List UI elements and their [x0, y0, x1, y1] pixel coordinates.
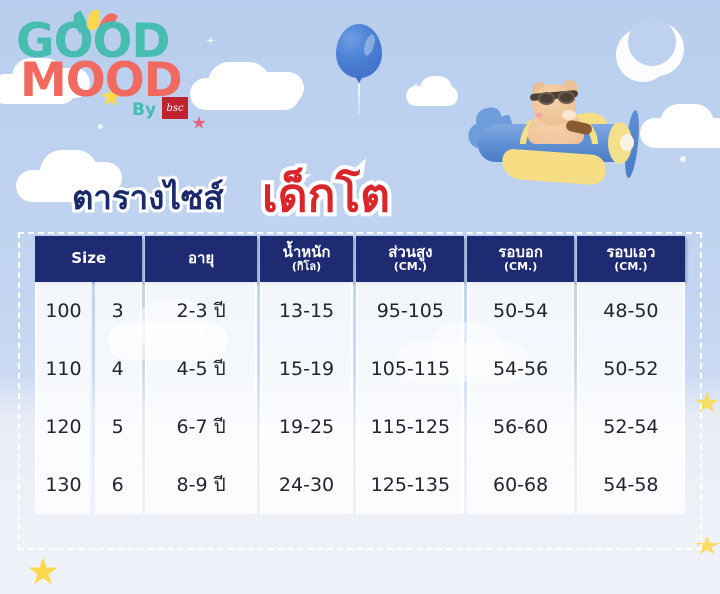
- moon-face: [643, 42, 652, 47]
- cell-height: 105-115: [356, 340, 464, 398]
- balloon-highlight: [362, 33, 377, 57]
- column-header-waist: รอบเอว (CM.): [577, 236, 685, 282]
- column-header-age: อายุ: [145, 236, 256, 282]
- column-header-chest: รอบอก (CM.): [467, 236, 573, 282]
- header-unit: (กิโล): [262, 261, 351, 273]
- bear-muzzle: [562, 110, 576, 120]
- goggle-lens-left: [538, 92, 555, 105]
- dot-small-left: [98, 124, 103, 129]
- table-header-row: Size อายุ น้ำหนัก (กิโล) ส่วนสูง (CM.) ร…: [35, 236, 685, 282]
- header-label: น้ำหนัก: [283, 243, 331, 261]
- cell-height: 125-135: [356, 456, 464, 514]
- cell-size: 100: [35, 282, 92, 340]
- cell-age: 6-7 ปี: [145, 398, 256, 456]
- brand-logo: GOOD MOOD By bsc: [14, 12, 214, 122]
- cell-chest: 60-68: [467, 456, 573, 514]
- cell-waist: 54-58: [577, 456, 685, 514]
- header-label: ส่วนสูง: [388, 243, 432, 261]
- table-row: 130 6 8-9 ปี 24-30 125-135 60-68 54-58: [35, 456, 685, 514]
- cell-weight: 19-25: [260, 398, 353, 456]
- cell-age: 8-9 ปี: [145, 456, 256, 514]
- cell-size-alt: 4: [95, 340, 143, 398]
- column-header-height: ส่วนสูง (CM.): [356, 236, 464, 282]
- cell-waist: 48-50: [577, 282, 685, 340]
- cell-waist: 52-54: [577, 398, 685, 456]
- cell-weight: 13-15: [260, 282, 353, 340]
- cell-size-alt: 3: [95, 282, 143, 340]
- table-row: 100 3 2-3 ปี 13-15 95-105 50-54 48-50: [35, 282, 685, 340]
- table-row: 110 4 4-5 ปี 15-19 105-115 54-56 50-52: [35, 340, 685, 398]
- partner-logo-bsc: bsc: [162, 97, 188, 119]
- cell-chest: 54-56: [467, 340, 573, 398]
- column-header-weight: น้ำหนัก (กิโล): [260, 236, 353, 282]
- balloon-icon: [336, 24, 382, 78]
- header-unit: (CM.): [579, 261, 683, 273]
- star-yellow-bottom-left: [28, 557, 58, 587]
- bear-cheek-left: [536, 113, 543, 118]
- cell-height: 115-125: [356, 398, 464, 456]
- header-label: รอบเอว: [606, 243, 655, 261]
- cell-waist: 50-52: [577, 340, 685, 398]
- cell-height: 95-105: [356, 282, 464, 340]
- cell-age: 4-5 ปี: [145, 340, 256, 398]
- cell-weight: 15-19: [260, 340, 353, 398]
- header-unit: (CM.): [358, 261, 462, 273]
- page-title: ตารางไซส์ เด็กโต: [0, 163, 720, 221]
- cell-size: 130: [35, 456, 92, 514]
- header-label: อายุ: [188, 249, 214, 267]
- cell-size-alt: 6: [95, 456, 143, 514]
- cell-chest: 56-60: [467, 398, 573, 456]
- dot-small-right: [680, 156, 686, 162]
- header-label: รอบอก: [498, 243, 543, 261]
- cell-age: 2-3 ปี: [145, 282, 256, 340]
- column-header-size: Size: [35, 236, 142, 282]
- logo-text-mood: MOOD: [20, 57, 182, 104]
- cell-size-alt: 5: [95, 398, 143, 456]
- cell-chest: 50-54: [467, 282, 573, 340]
- table-row: 120 5 6-7 ปี 19-25 115-125 56-60 52-54: [35, 398, 685, 456]
- balloon-string: [358, 84, 360, 114]
- title-accent: เด็กโต: [262, 159, 390, 232]
- header-label: Size: [71, 249, 106, 267]
- title-main: ตารางไซส์: [72, 171, 223, 224]
- size-chart-poster: GOOD MOOD By bsc ตารางไซส์ เด็กโต: [0, 0, 720, 594]
- cell-size: 120: [35, 398, 92, 456]
- size-chart-table: Size อายุ น้ำหนัก (กิโล) ส่วนสูง (CM.) ร…: [32, 236, 688, 514]
- cell-weight: 24-30: [260, 456, 353, 514]
- cell-size: 110: [35, 340, 92, 398]
- header-unit: (CM.): [469, 261, 571, 273]
- propeller-hub: [620, 134, 634, 151]
- logo-by-label: By: [132, 100, 156, 120]
- goggle-lens-right: [558, 91, 575, 104]
- crescent-moon-icon: [630, 22, 684, 76]
